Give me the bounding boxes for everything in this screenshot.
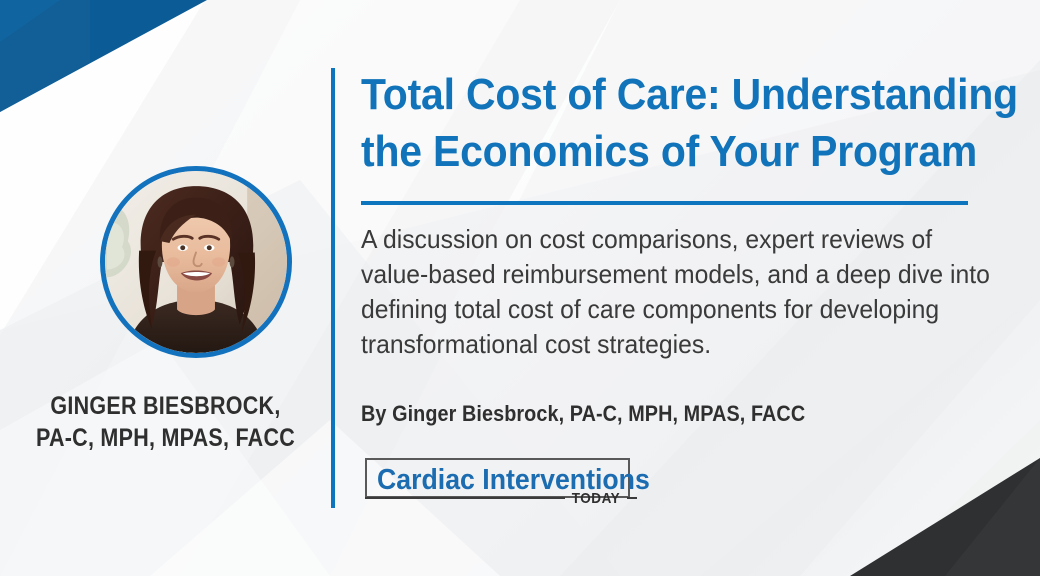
publication-logo-subtitle: TODAY [572, 490, 620, 507]
description-line-2: value-based reimbursement models, and a … [361, 257, 931, 292]
description-line-4: transformational cost strategies. [361, 327, 931, 362]
page-title-line-2: the Economics of Your Program [361, 123, 938, 180]
author-name-line-1: GINGER BIESBROCK, [23, 390, 308, 422]
vertical-divider [331, 68, 335, 508]
promo-banner: GINGER BIESBROCK, PA-C, MPH, MPAS, FACC … [0, 0, 1040, 576]
description-line-1: A discussion on cost comparisons, expert… [361, 222, 931, 257]
portrait-photo [105, 171, 287, 353]
page-title-line-1: Total Cost of Care: Understanding [361, 66, 938, 123]
publication-logo-subtitle-row: TODAY [365, 488, 637, 508]
content-column: Total Cost of Care: Understanding the Ec… [361, 0, 1001, 576]
description-line-3: defining total cost of care components f… [361, 292, 931, 327]
page-title: Total Cost of Care: Understanding the Ec… [361, 66, 938, 180]
byline: By Ginger Biesbrock, PA-C, MPH, MPAS, FA… [361, 401, 805, 427]
title-underline-rule [361, 201, 968, 205]
author-name: GINGER BIESBROCK, PA-C, MPH, MPAS, FACC [23, 390, 308, 454]
logo-rule-left [365, 497, 565, 499]
description-text: A discussion on cost comparisons, expert… [361, 222, 931, 362]
avatar [100, 166, 292, 358]
logo-rule-right [627, 497, 637, 499]
author-name-line-2: PA-C, MPH, MPAS, FACC [23, 422, 308, 454]
author-column: GINGER BIESBROCK, PA-C, MPH, MPAS, FACC [0, 0, 331, 576]
